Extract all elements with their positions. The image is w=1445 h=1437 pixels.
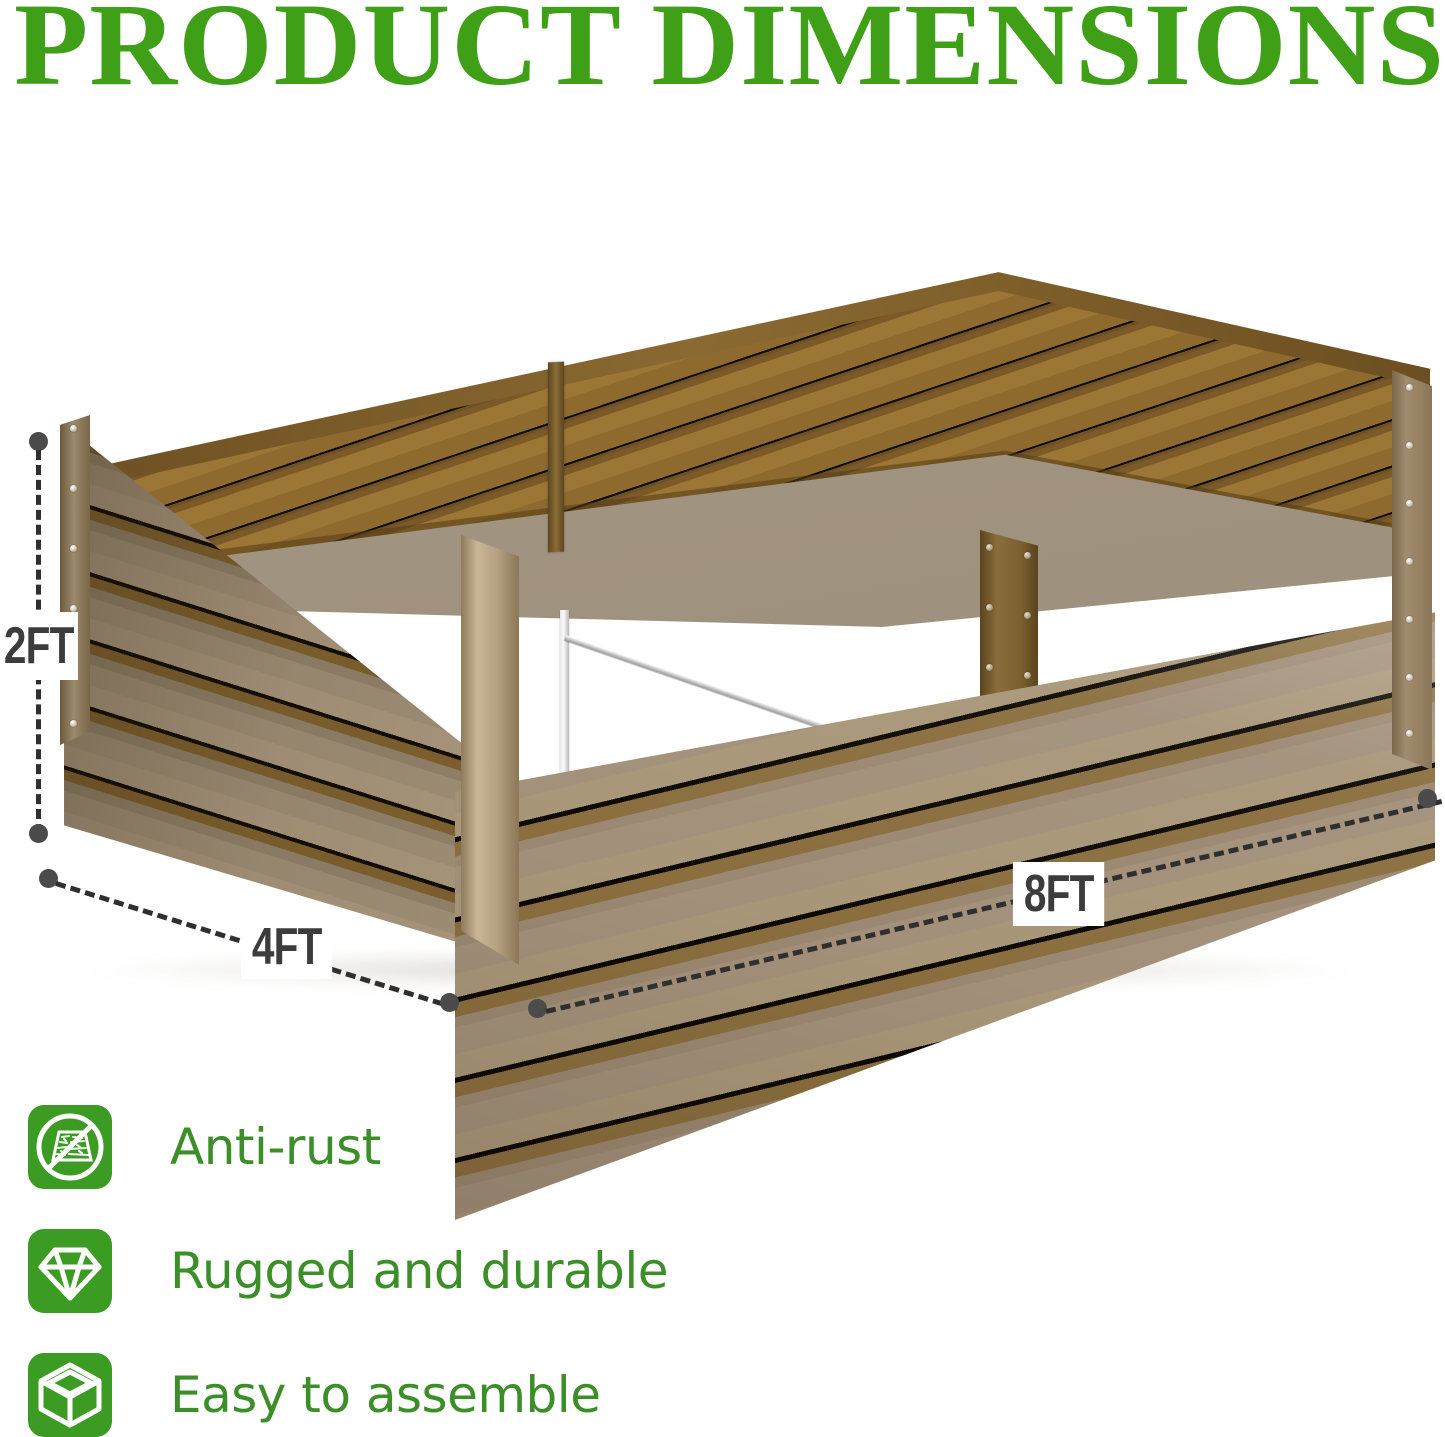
diamond-icon: [28, 1229, 112, 1313]
rivet: [1406, 442, 1413, 449]
feature-list: Anti-rust Rugged and durable: [28, 1085, 928, 1437]
rivet: [1406, 616, 1413, 623]
no-rust-icon: [28, 1105, 112, 1189]
dimension-label-width: 4FT: [241, 915, 333, 979]
page-title: PRODUCT DIMENSIONS: [14, 0, 1445, 104]
rivet: [70, 720, 77, 727]
dimension-label-height: 2FT: [0, 612, 78, 680]
rivet: [70, 485, 77, 492]
corner-post-back-left: [60, 415, 90, 745]
rivet: [70, 425, 77, 432]
rivet: [1024, 672, 1031, 679]
rivet: [986, 664, 993, 671]
feature-label: Anti-rust: [170, 1122, 381, 1172]
rivet: [1406, 500, 1413, 507]
corner-post-right: [1392, 370, 1432, 770]
rivet: [1024, 612, 1031, 619]
feature-item-anti-rust: Anti-rust: [28, 1085, 928, 1209]
cube-icon: [28, 1353, 112, 1437]
rivet: [986, 604, 993, 611]
feature-item-rugged-and-durable: Rugged and durable: [28, 1209, 928, 1333]
back-panel-seam: [548, 362, 564, 553]
feature-item-easy-to-assemble: Easy to assemble: [28, 1333, 928, 1437]
dim-dot-end: [440, 993, 459, 1012]
rivet: [70, 545, 77, 552]
dimension-label-length: 8FT: [1013, 862, 1105, 926]
dim-dot-start: [528, 999, 547, 1018]
rivet: [1406, 674, 1413, 681]
dim-dot-end: [1418, 789, 1437, 808]
feature-label: Rugged and durable: [170, 1246, 668, 1296]
dim-dot-top: [29, 432, 48, 451]
feature-label: Easy to assemble: [170, 1370, 600, 1420]
dim-dot-bottom: [29, 824, 48, 843]
rivet: [1024, 552, 1031, 559]
product-illustration: [0, 250, 1445, 1040]
product-dimensions-infographic: PRODUCT DIMENSIONS: [0, 0, 1445, 1437]
rivet: [1406, 558, 1413, 565]
rivet: [1406, 384, 1413, 391]
rivet: [986, 544, 993, 551]
rivet: [70, 605, 77, 612]
corner-post-front-left: [461, 535, 519, 965]
rivet: [1406, 730, 1413, 737]
